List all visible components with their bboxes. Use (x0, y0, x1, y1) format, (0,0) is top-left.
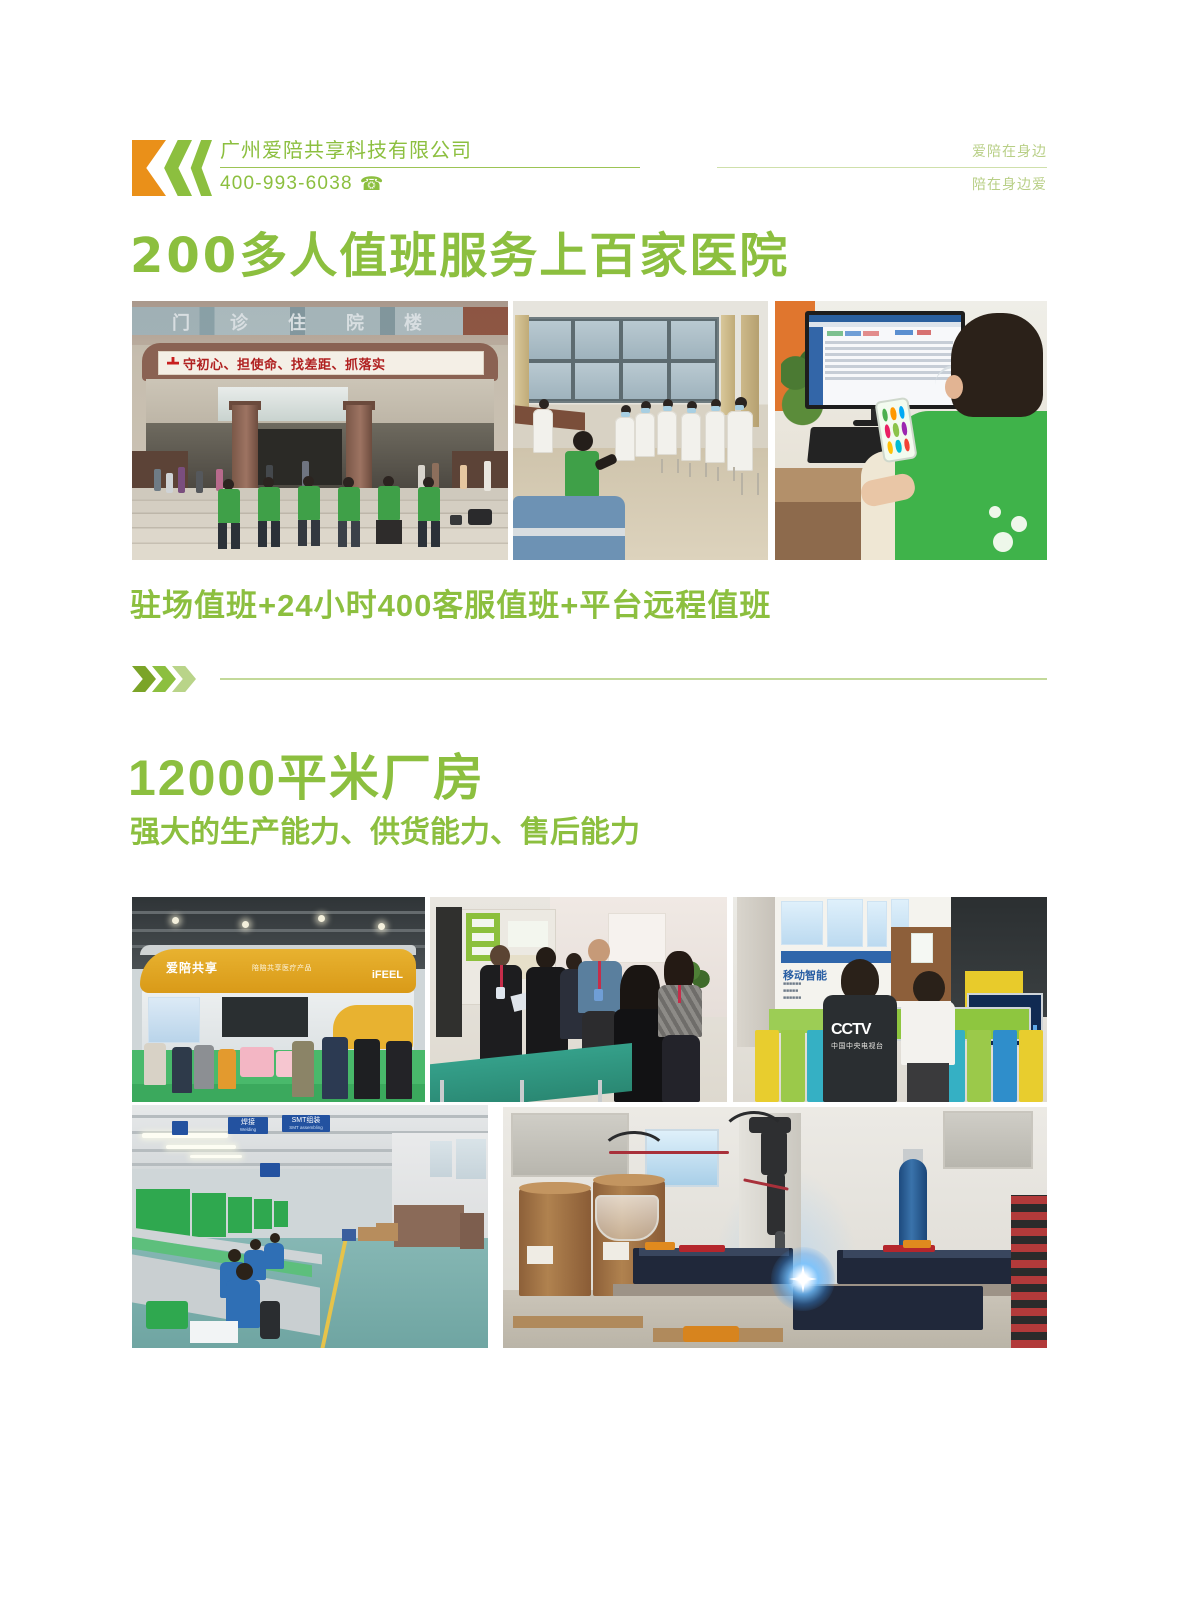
photo2-face-mask (735, 405, 744, 410)
photo6-folded-bed (781, 1030, 805, 1102)
logo-chevron-orange-icon (132, 140, 166, 196)
app-icon (901, 422, 908, 436)
photo4-ceiling-light (172, 917, 179, 924)
section1-caption: 驻场值班+24小时400客服值班+平台远程值班 (130, 580, 771, 625)
section1-title-text: 多人值班服务上百家医院 (239, 230, 789, 283)
photo7-worker-head (236, 1263, 253, 1280)
app-icon (890, 407, 897, 421)
app-icon (882, 408, 889, 422)
photo2-chair-legs (661, 459, 679, 473)
photo1-staff-vest (298, 486, 320, 520)
slogan-line-2: 陪在身边爱 (717, 171, 1047, 197)
assembly-line-photo: 焊接 Welding SMT组装 SMT assembling (132, 1105, 488, 1348)
photo5-shelf-box (472, 933, 494, 941)
photo1-glyph-2: 诊 (230, 309, 248, 333)
photo6-folded-bed (755, 1030, 779, 1102)
photo7-green-board (228, 1197, 252, 1233)
photo3-cell-highlight (917, 330, 931, 335)
photo2-window-pane (623, 363, 667, 399)
photo6-product-poster (827, 899, 863, 947)
photo3-sheet-row (825, 371, 953, 374)
photo7-window (430, 1141, 452, 1177)
photo2-curtain-left (515, 315, 529, 415)
app-icon (892, 423, 899, 437)
photo5-dark-post (436, 907, 462, 1037)
company-name: 广州爱陪共享科技有限公司 (220, 138, 640, 164)
photo4-visitor (172, 1047, 192, 1093)
photo8-drum-lid (519, 1182, 591, 1194)
photo2-chair-legs (689, 463, 707, 477)
photo2-window-pane (575, 363, 619, 399)
photo7-green-board (254, 1199, 272, 1229)
photo7-machine (394, 1205, 464, 1247)
photo6-spec-text: ■■■■■■■■■■■■■■■■■ (783, 981, 801, 1002)
photo7-green-board (274, 1201, 288, 1227)
photo7-sign1-cn: 焊接 (241, 1119, 255, 1126)
photo4-ceiling-light (378, 923, 385, 930)
photo4-booth-interior (222, 997, 308, 1037)
photo1-column-left (232, 405, 258, 497)
photo2-curtain-right (721, 315, 735, 415)
photo1-bystander (154, 469, 161, 491)
photo5-visitor-head (588, 939, 610, 963)
photo7-machine (460, 1213, 484, 1249)
slogan-line-1: 爱陪在身边 (717, 138, 1047, 164)
photo7-carton (358, 1227, 376, 1241)
expo-visitors-photo (430, 897, 727, 1102)
photo2-window-pane (527, 363, 571, 399)
photo1-bystander (460, 465, 467, 489)
photo1-staff-legs (298, 520, 320, 546)
photo4-visitor (218, 1049, 236, 1089)
brochure-page: 广州爱陪共享科技有限公司 400-993-6038 ☎ 爱陪在身边 陪在身边爱 … (0, 0, 1179, 1600)
logo-chevron-green-1-icon (158, 140, 192, 196)
photo7-sign-smt: SMT组装 SMT assembling (282, 1115, 330, 1132)
photo5-lanyard (678, 985, 681, 1003)
photo2-nurse (681, 413, 701, 461)
photo7-sign-welding: 焊接 Welding (228, 1117, 268, 1134)
photo2-window-pane (671, 363, 715, 399)
photo4-visitor (386, 1041, 412, 1099)
photo7-light-tube (166, 1145, 236, 1149)
photo1-staff-skirt (376, 520, 402, 544)
photo1-glyph-3: 住 (288, 309, 306, 333)
divider-line (220, 678, 1047, 680)
photo5-lanyard (598, 961, 601, 991)
photo5-lanyard (500, 965, 503, 989)
photo1-bystander (166, 473, 173, 493)
photo4-brand-cn: 爱陪共享 (166, 959, 218, 976)
photo1-bystander (484, 461, 491, 491)
photo1-glyph-4: 院 (346, 309, 364, 333)
photo2-chair-legs (717, 467, 735, 481)
photo1-bystander (178, 467, 185, 493)
app-icon (898, 406, 905, 420)
section2-title: 12000平米厂房 (128, 738, 485, 810)
photo1-staff-vest (218, 489, 240, 523)
photo6-staff-shirt (901, 1001, 955, 1065)
photo2-window-pane (527, 321, 571, 359)
photo2-nurse (705, 411, 725, 463)
photo5-bed-leg (598, 1080, 602, 1102)
photo3-sheet-row (825, 359, 953, 362)
photo1-building-signage: 门 诊 住 院 楼 (172, 309, 472, 333)
expo-booth-photo: 爱陪共享 陪陪共享医疗产品 iFEEL (132, 897, 425, 1102)
photo7-window (456, 1139, 486, 1179)
divider-chevron-1-icon (132, 666, 156, 692)
photo2-nurse (727, 411, 753, 471)
photo1-glyph-1: 门 (172, 309, 190, 333)
photo6-cctv-logo: CCTV (831, 1021, 871, 1039)
vest-dot-icon (1011, 516, 1027, 532)
header-right-divider-line (717, 167, 1047, 168)
photo1-staff-vest (378, 486, 400, 520)
photo8-jig-handle (645, 1242, 675, 1250)
photo3-operator-ear (945, 375, 963, 399)
photo7-carton (376, 1223, 398, 1241)
photo8-wire-funnel (595, 1195, 659, 1241)
photo8-red-cable (609, 1151, 729, 1154)
section2-title-text: 平米厂房 (277, 750, 485, 806)
photo1-staff-vest (338, 487, 360, 521)
app-icon (887, 440, 894, 454)
photo7-worker-head (250, 1239, 261, 1250)
photo2-nurse (533, 409, 553, 453)
photo6-cctv-logo-sub: 中国中央电视台 (831, 1041, 884, 1051)
section2-subtitle: 强大的生产能力、供货能力、售后能力 (130, 807, 640, 851)
photo3-sheet-row (825, 353, 953, 356)
photo6-product-poster (781, 901, 823, 945)
photo2-bed-rail (513, 528, 625, 536)
photo3-sheet-row (825, 377, 953, 380)
photo7-green-parts-bin (146, 1301, 188, 1329)
photo3-cell-highlight (895, 330, 913, 335)
photo5-badge (594, 989, 603, 1001)
hospital-entrance-photo: 门 诊 住 院 楼 守初心、担使命、找差距、抓落实 (132, 301, 508, 560)
photo6-cctv-reporter: CCTV 中国中央电视台 (823, 959, 897, 1102)
photo3-phone-app-grid (882, 406, 911, 455)
photo3-sheet-row (825, 347, 953, 350)
cctv-interview-photo: 移动智能 ■■■■■■■■■■■■■■■■■ (733, 897, 1047, 1102)
header-left-block: 广州爱陪共享科技有限公司 400-993-6038 ☎ (220, 138, 640, 197)
photo6-staff-head (913, 971, 945, 1005)
photo8-drum-lid (593, 1174, 665, 1186)
header-divider-line (220, 167, 640, 168)
telephone-icon: ☎ (360, 175, 385, 194)
vest-dot-icon (993, 532, 1013, 552)
page-header: 广州爱陪共享科技有限公司 400-993-6038 ☎ 爱陪在身边 陪在身边爱 (132, 138, 1047, 200)
photo7-sign1-en: Welding (228, 1127, 268, 1132)
party-emblem-icon (167, 357, 179, 369)
section1-title-number: 200 (130, 228, 239, 284)
logo-chevron-green-2-icon (186, 140, 212, 196)
photo4-brand-en: iFEEL (372, 969, 403, 981)
photo1-red-banner: 守初心、担使命、找差距、抓落实 (158, 351, 484, 375)
photo2-presenter-vest (565, 451, 599, 499)
app-icon (895, 439, 902, 453)
photo8-drum-label (603, 1242, 629, 1260)
photo5-shelf-box (508, 921, 548, 947)
photo2-nurse (635, 413, 655, 457)
photo5-shelf-box (472, 919, 494, 927)
photo2-window-pane (623, 321, 667, 359)
section2-title-number: 12000 (128, 750, 277, 806)
photo6-folded-bed (1019, 1030, 1043, 1102)
photo2-nurse-head (539, 399, 549, 409)
photo6-white-device (911, 933, 933, 963)
photo8-robot-arm-lower (767, 1173, 785, 1235)
header-right-block: 爱陪在身边 陪在身边爱 (717, 138, 1047, 197)
photo4-truss (132, 911, 425, 914)
nurse-training-photo (513, 301, 768, 560)
photo3-sheet-row (825, 365, 953, 368)
photo4-visitor (354, 1039, 380, 1099)
photo1-bags (468, 509, 492, 525)
photo7-sign2-cn: SMT组装 (292, 1117, 321, 1124)
platform-operator-photo (775, 301, 1047, 560)
app-icon (884, 424, 891, 438)
photo7-worker (264, 1243, 284, 1269)
photo7-paper-sheet (190, 1321, 238, 1343)
photo1-bystander (196, 471, 203, 493)
photo2-nurse (657, 411, 677, 455)
photo7-carton (342, 1229, 356, 1241)
photo7-light-tube (190, 1155, 242, 1158)
photo8-wall-panel (943, 1111, 1033, 1169)
photo3-operator-head (951, 313, 1043, 417)
photo4-brand-sub: 陪陪共享医疗产品 (252, 963, 312, 973)
photo8-jig-clamp (679, 1245, 725, 1252)
photo2-window-frame (523, 317, 719, 403)
photo8-wood-pallet (513, 1316, 643, 1328)
photo5-bed-leg (520, 1080, 524, 1102)
section-divider (132, 662, 1047, 696)
company-logo (132, 140, 212, 196)
photo2-chair-legs (741, 473, 759, 495)
photo2-nurse (615, 417, 635, 461)
vest-dot-icon (989, 506, 1001, 518)
robotic-welding-photo (503, 1107, 1047, 1348)
photo3-sheet-row (825, 341, 953, 344)
photo6-staff-member (901, 971, 955, 1102)
photo6-folded-bed (967, 1030, 991, 1102)
photo4-visitor (144, 1043, 166, 1085)
photo1-staff-legs (258, 521, 280, 547)
photo3-cell-highlight (845, 331, 861, 336)
photo3-cell-highlight (827, 331, 843, 336)
photo6-staff-trousers (907, 1063, 949, 1102)
photo4-visitor (292, 1041, 314, 1097)
photo5-badge (496, 987, 505, 999)
photo3-app-toolbar (809, 322, 961, 327)
photo4-ceiling-light (318, 915, 325, 922)
phone-number: 400-993-6038 (220, 171, 353, 197)
photo4-visitor (322, 1037, 348, 1099)
photo1-staff-vest (258, 487, 280, 521)
photo2-presenter-head (573, 431, 593, 451)
photo2-window-pane (575, 321, 619, 359)
photo8-drum-label (527, 1246, 553, 1264)
photo5-visitor-pants (662, 1035, 700, 1102)
photo1-staff-legs (338, 521, 360, 547)
photo5-wall-poster (608, 913, 666, 963)
photo1-staff-legs (418, 521, 440, 547)
company-phone-row: 400-993-6038 ☎ (220, 171, 640, 197)
photo6-product-poster (867, 901, 887, 947)
photo4-pink-chair (240, 1047, 274, 1077)
photo8-jig-handle (903, 1240, 931, 1248)
photo4-visitor (194, 1045, 214, 1089)
photo1-glyph-5: 楼 (404, 309, 422, 333)
photo8-control-pedal (683, 1326, 739, 1342)
photo7-chair (260, 1301, 280, 1339)
photo5-visitor-head (536, 947, 556, 969)
photo7-sign2-en: SMT assembling (282, 1125, 330, 1130)
photo8-cable-loop (719, 1111, 789, 1171)
photo4-ceiling-light (242, 921, 249, 928)
section1-title: 200多人值班服务上百家医院 (130, 216, 789, 286)
photo7-worker-head (270, 1233, 280, 1243)
photo7-sign-small (172, 1121, 188, 1135)
photo1-bags (450, 515, 462, 525)
photo3-sidebar (809, 327, 823, 405)
photo6-folded-bed (993, 1030, 1017, 1102)
photo1-staff-vest (418, 487, 440, 521)
photo8-operator-striped-shirt (1011, 1195, 1047, 1348)
photo5-bed-leg (440, 1080, 444, 1102)
app-icon (903, 438, 910, 452)
photo8-material-drum (519, 1188, 591, 1296)
photo3-cell-highlight (863, 331, 879, 336)
photo7-green-board (192, 1193, 226, 1237)
photo3-vest-dots (985, 506, 1039, 554)
photo1-staff-legs (218, 523, 240, 549)
photo1-banner-text: 守初心、担使命、找差距、抓落实 (183, 354, 386, 373)
photo4-product-panel (148, 997, 200, 1043)
photo2-window-pane (671, 321, 715, 359)
photo7-worker-head (228, 1249, 241, 1262)
photo5-visitor-head (490, 945, 510, 967)
photo1-bystander (216, 469, 223, 491)
photo3-app-titlebar (809, 315, 961, 322)
photo7-sign-small (260, 1163, 280, 1177)
